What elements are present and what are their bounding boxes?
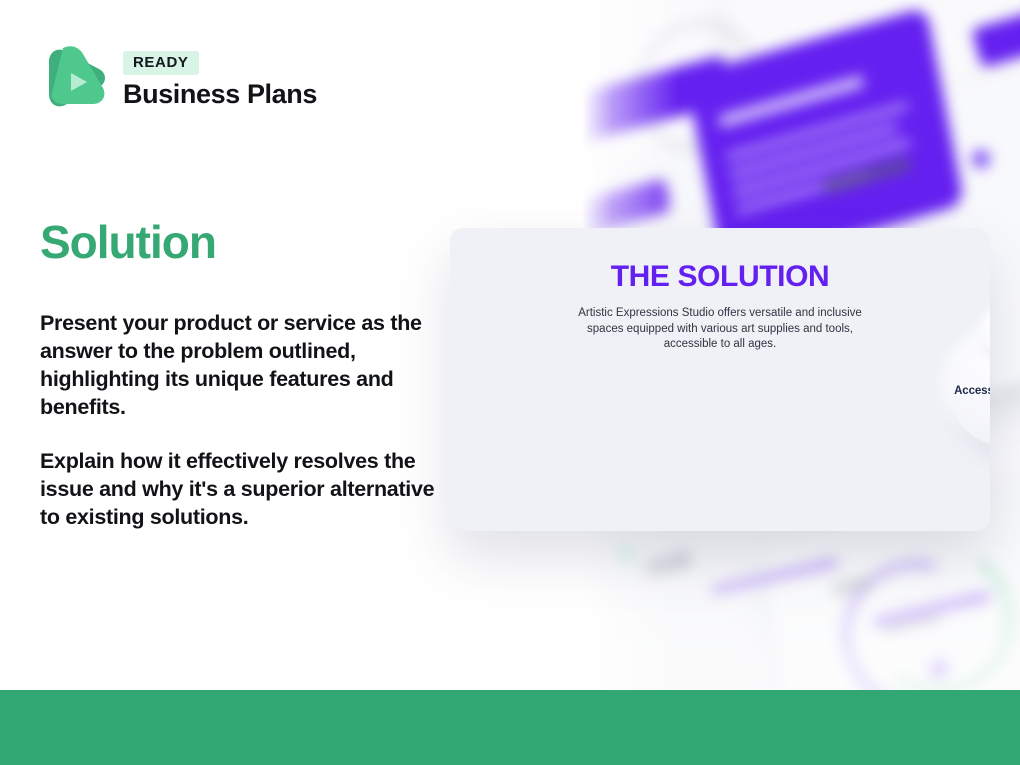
brand-lockup: READY Business Plans	[41, 38, 317, 118]
background-dot	[930, 660, 948, 678]
node-label: Accessible Spaces	[954, 384, 990, 398]
solution-nodes: Accessible Spaces Affordable Fees	[450, 336, 990, 531]
node-connector-lines	[450, 336, 990, 531]
body-paragraph-2: Explain how it effectively resolves the …	[40, 447, 440, 531]
solution-card-title: THE SOLUTION	[450, 260, 990, 294]
brand-name: Business Plans	[123, 79, 317, 110]
node-accessible-spaces[interactable]: Accessible Spaces	[950, 336, 990, 446]
brand-text: READY Business Plans	[123, 47, 317, 110]
footer-band	[0, 690, 1020, 765]
body-paragraph-1: Present your product or service as the a…	[40, 309, 440, 421]
page-title: Solution	[40, 215, 216, 269]
background-dot	[617, 545, 635, 563]
background-dot	[972, 150, 990, 168]
play-triangle-logo	[41, 38, 109, 118]
solution-preview-card: THE SOLUTION Artistic Expressions Studio…	[450, 228, 990, 531]
ready-badge: READY	[123, 51, 199, 75]
node-bubble: Accessible Spaces	[950, 336, 990, 446]
